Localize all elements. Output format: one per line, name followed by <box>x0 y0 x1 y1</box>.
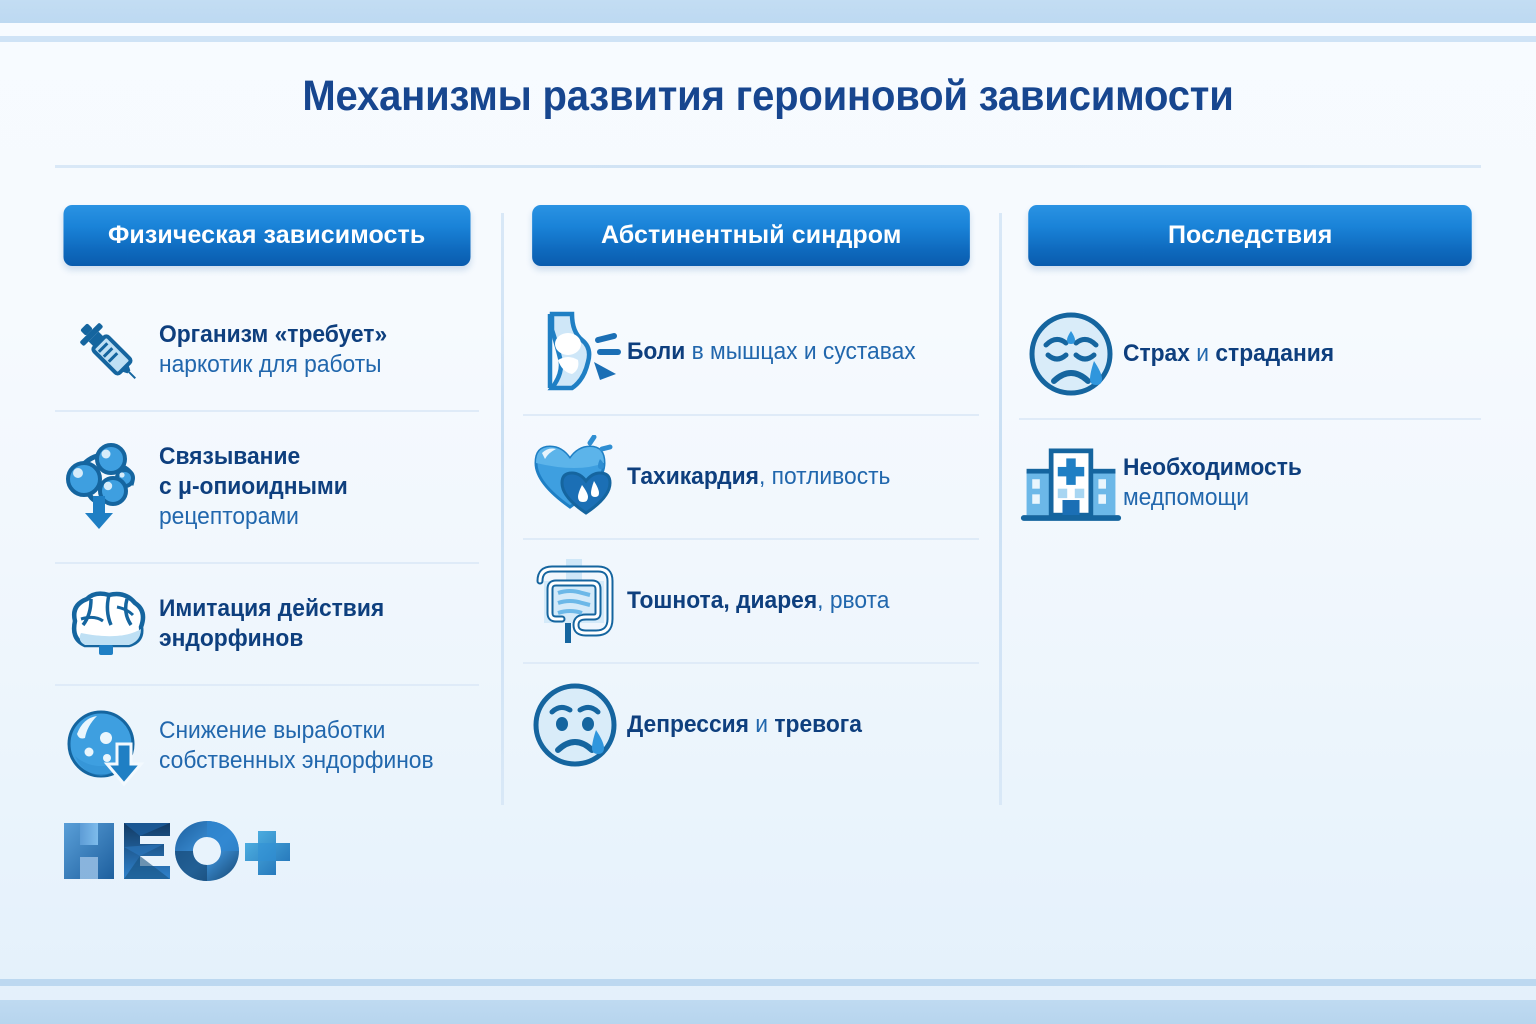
column-divider-2 <box>999 213 1002 805</box>
top-decorative-band <box>0 0 1536 23</box>
column-divider-1 <box>501 213 504 805</box>
column-header-label: Физическая зависимость <box>108 221 425 250</box>
list-item: Боли в мышцах и суставах <box>523 290 979 414</box>
infographic-poster: Механизмы развития героиновой зависимост… <box>0 0 1536 1024</box>
list-item-text: Депрессия и тревога <box>627 710 862 740</box>
list-item-regular-text-2: собственных эндорфинов <box>159 747 434 774</box>
list-item-bold-text-2: с μ-опиоидными <box>159 473 348 500</box>
list-item-regular-text: и <box>1190 340 1215 367</box>
list-item-regular-text: в мышцах и суставах <box>685 338 915 365</box>
list-item-bold-text: Организм «требует» <box>159 321 387 348</box>
list-item-text: Страх и страдания <box>1123 339 1334 369</box>
list-item-text: Снижение выработки собственных эндорфино… <box>159 716 434 776</box>
logo-neo-plus <box>62 818 292 886</box>
heart-sweat-icon <box>523 435 627 519</box>
list-item-bold-text-2: страдания <box>1215 340 1334 367</box>
list-item: Имитация действия эндорфинов <box>55 562 479 684</box>
bottom-rule <box>0 979 1536 986</box>
list-item-bold-text: Депрессия <box>627 711 749 738</box>
list-item: Страх и страдания <box>1019 290 1481 418</box>
list-item-regular-text: , рвота <box>817 587 889 614</box>
list-item-regular-text: наркотик для работы <box>159 351 382 378</box>
list-item-text: Связывание с μ-опиоидными рецепторами <box>159 442 348 533</box>
column-header-consequences: Последствия <box>1028 205 1472 266</box>
brain-icon <box>55 585 159 663</box>
column-header-withdrawal-syndrome: Абстинентный синдром <box>532 205 970 266</box>
column-withdrawal-syndrome: Абстинентный синдром <box>523 205 979 786</box>
list-item: Связывание с μ-опиоидными рецепторами <box>55 410 479 562</box>
column-items-physical: Организм «требует» наркотик для работы <box>55 290 479 806</box>
list-item-regular-text: , потливость <box>759 463 890 490</box>
column-header-physical-dependence: Физическая зависимость <box>63 205 470 266</box>
list-item: Тахикардия, потливость <box>523 414 979 538</box>
list-item-text: Тахикардия, потливость <box>627 462 890 492</box>
list-item-text: Необходимость медпомощи <box>1123 453 1302 513</box>
title-underline-rule <box>55 165 1481 168</box>
top-rule <box>0 36 1536 42</box>
hospital-icon <box>1019 437 1123 529</box>
list-item-regular-text: и <box>749 711 774 738</box>
list-item-text: Имитация действия эндорфинов <box>159 594 384 654</box>
list-item: Тошнота, диарея, рвота <box>523 538 979 662</box>
list-item-bold-text: Имитация действия <box>159 595 384 622</box>
list-item: Необходимость медпомощи <box>1019 418 1481 546</box>
molecule-receptor-icon <box>55 441 159 533</box>
column-items-withdrawal: Боли в мышцах и суставах <box>523 290 979 786</box>
list-item-regular-text: медпомощи <box>1123 484 1249 511</box>
intestines-icon <box>523 557 627 645</box>
list-item-text: Организм «требует» наркотик для работы <box>159 320 387 380</box>
list-item-bold-text: Тошнота, диарея <box>627 587 817 614</box>
list-item-bold-text: Необходимость <box>1123 454 1302 481</box>
list-item-regular-text: рецепторами <box>159 503 299 530</box>
column-header-label: Последствия <box>1168 221 1332 250</box>
bottom-decorative-band <box>0 1000 1536 1024</box>
list-item-bold-text: Боли <box>627 338 685 365</box>
list-item-bold-text-2: эндорфинов <box>159 625 303 652</box>
list-item-text: Тошнота, диарея, рвота <box>627 586 889 616</box>
list-item-bold-text-2: тревога <box>774 711 862 738</box>
list-item: Депрессия и тревога <box>523 662 979 786</box>
crying-face-icon <box>1019 309 1123 399</box>
column-items-consequences: Страх и страдания <box>1019 290 1481 546</box>
knee-joint-pain-icon <box>523 310 627 394</box>
list-item-text: Боли в мышцах и суставах <box>627 337 916 367</box>
column-header-label: Абстинентный синдром <box>601 221 902 250</box>
list-item-bold-text: Тахикардия <box>627 463 759 490</box>
syringe-icon <box>55 311 159 389</box>
column-physical-dependence: Физическая зависимость <box>55 205 479 806</box>
page-title: Механизмы развития героиновой зависимост… <box>54 72 1482 121</box>
sad-face-tear-icon <box>523 680 627 770</box>
columns-container: Физическая зависимость <box>0 205 1536 815</box>
column-consequences: Последствия <box>1019 205 1481 546</box>
endorphin-decrease-icon <box>55 704 159 788</box>
list-item-regular-text: Снижение выработки <box>159 717 385 744</box>
list-item-bold-text: Страх <box>1123 340 1190 367</box>
list-item: Снижение выработки собственных эндорфино… <box>55 684 479 806</box>
list-item: Организм «требует» наркотик для работы <box>55 290 479 410</box>
list-item-bold-text: Связывание <box>159 443 300 470</box>
logo-icon <box>62 817 292 887</box>
